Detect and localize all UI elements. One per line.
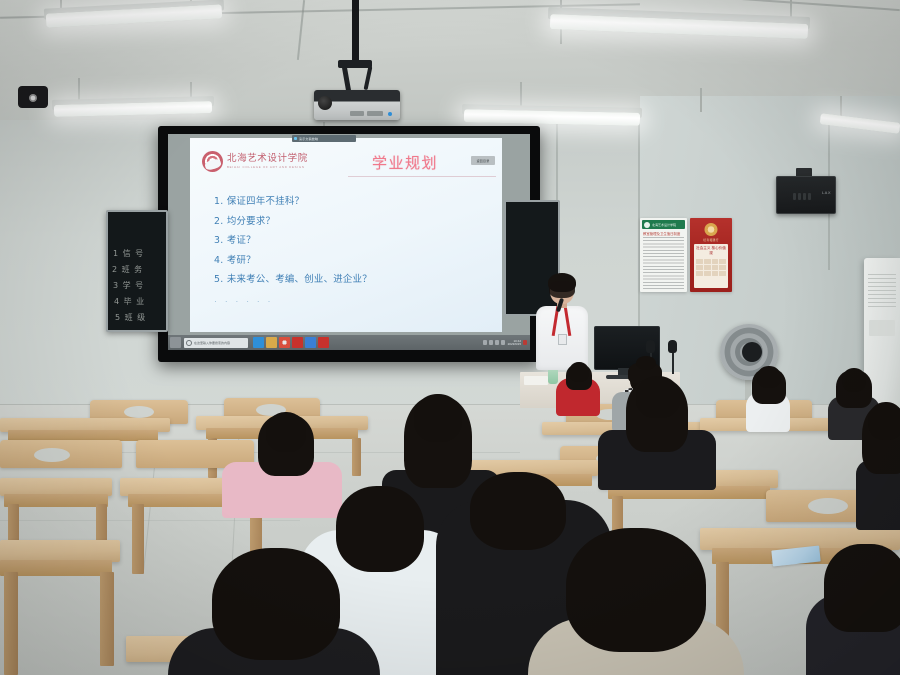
desk-leg: [132, 504, 144, 574]
slide-ellipsis: · · · · · ·: [214, 296, 372, 306]
speaker-brand-label: LAX: [822, 190, 831, 195]
projector-power-led: [388, 112, 392, 116]
desk-leg: [4, 572, 18, 675]
school-name-cn: 北海艺术设计学院: [227, 154, 308, 164]
desk-leg: [352, 438, 361, 476]
poster-emblem-icon: [705, 223, 718, 236]
slide-corner-button[interactable]: 返回目录: [471, 156, 495, 165]
blackboard-left: 1 信 号 2 班 务 3 学 号 4 毕 业 5 班 级: [106, 210, 168, 332]
taskbar-clock[interactable]: 10:42 2023/9/15: [508, 340, 521, 346]
wps-icon[interactable]: [292, 337, 303, 348]
poster-notice-header-text: 北海艺术设计学院: [652, 223, 676, 227]
fan-hub: [742, 342, 762, 362]
school-logo: 北海艺术设计学院 BEIHAI COLLEGE OF ART AND DESIG…: [202, 151, 308, 172]
mic-stand-2: [672, 352, 674, 374]
slide-bullet-4: 4. 考研？: [214, 252, 372, 266]
student-desk-apron: [4, 494, 108, 507]
poster-logo-icon: [644, 222, 650, 228]
display-desktop: 演示文稿放映 北海艺术设计学院 BEIHAI COLLEGE OF ART AN…: [168, 134, 530, 350]
blackboard-line-2: 2 班 务: [112, 264, 143, 275]
chair-backrest-hole: [34, 448, 70, 462]
wall-speaker: LAX: [776, 176, 836, 214]
slide-top-tab[interactable]: 演示文稿放映: [292, 135, 356, 142]
chair-backrest-hole: [124, 406, 154, 418]
slide-bullet-1: 1. 保证四年不挂科？: [214, 193, 372, 207]
blackboard-line-4: 4 毕 业: [114, 296, 145, 307]
poster-notice-title: 教室管理及卫生值日制度: [643, 231, 680, 236]
slide-bullet-3: 3. 考证？: [214, 232, 372, 246]
chair-backrest-hole: [808, 498, 848, 514]
chrome-icon[interactable]: [279, 337, 290, 348]
ac-control-panel[interactable]: [869, 320, 895, 336]
slide-corner-button-label: 返回目录: [477, 159, 490, 163]
ac-grill: [868, 274, 896, 310]
poster-values-grid: [696, 259, 726, 276]
task-view-icon[interactable]: [253, 337, 264, 348]
tray-volume-icon[interactable]: [489, 340, 493, 345]
presentation-slide: 演示文稿放映 北海艺术设计学院 BEIHAI COLLEGE OF ART AN…: [190, 138, 502, 332]
slide-bullet-5: 5. 未来考公、考编、创业、进企业？: [214, 271, 372, 285]
poster-notice-header: 北海艺术设计学院: [642, 220, 685, 229]
system-tray[interactable]: 10:42 2023/9/15: [483, 340, 530, 346]
wall-poster-notice: 北海艺术设计学院 教室管理及卫生值日制度: [640, 218, 687, 292]
projector-mount-pole: [352, 0, 359, 62]
windows-taskbar[interactable]: 在这里输入你要搜索的内容 10:42: [168, 335, 530, 350]
tray-battery-icon[interactable]: [501, 340, 505, 345]
notification-center-icon[interactable]: [523, 340, 527, 345]
search-icon: [186, 340, 192, 346]
slide-bullet-2: 2. 均分要求？: [214, 213, 372, 227]
slide-tab-label: 演示文稿放映: [299, 137, 318, 141]
taskbar-icons[interactable]: [253, 337, 329, 348]
presenter-hair-side: [549, 281, 575, 298]
slide-tab-dot-icon: [294, 137, 297, 140]
file-explorer-icon[interactable]: [266, 337, 277, 348]
blackboard-line-5: 5 班 级: [115, 312, 146, 323]
presenter-badge: [558, 334, 567, 345]
student-desk-top: [0, 540, 120, 562]
poster-values-title: 社会主义 核心价值观: [696, 246, 726, 257]
desk-leg: [100, 572, 114, 666]
projector-lens: [318, 96, 332, 110]
slide-title: 学业规划: [372, 152, 438, 173]
tray-input-icon[interactable]: [495, 340, 499, 345]
desk-microphone-1[interactable]: [646, 340, 655, 353]
tray-network-icon[interactable]: [483, 340, 487, 345]
pdf-reader-icon[interactable]: [318, 337, 329, 348]
speaker-grill: [793, 193, 811, 200]
powerpoint-icon[interactable]: [305, 337, 316, 348]
interactive-display[interactable]: 演示文稿放映 北海艺术设计学院 BEIHAI COLLEGE OF ART AN…: [158, 126, 540, 362]
clock-date: 2023/9/15: [508, 343, 521, 346]
start-button-icon[interactable]: [170, 337, 181, 348]
desk-microphone-2[interactable]: [668, 340, 677, 353]
poster-notice-body: [643, 237, 684, 289]
slide-bullet-list: 1. 保证四年不挂科？ 2. 均分要求？ 3. 考证？ 4. 考研？ 5. 未来…: [214, 193, 372, 306]
taskbar-search-placeholder: 在这里输入你要搜索的内容: [194, 341, 230, 345]
wall-poster-core-values: 培育和践行 社会主义 核心价值观: [690, 218, 732, 292]
poster-values-subtitle: 培育和践行: [703, 238, 719, 242]
blackboard-line-1: 1 信 号: [113, 248, 144, 259]
slide-title-rule: [348, 176, 496, 177]
school-logo-mark-icon: [202, 151, 223, 172]
classroom-scene: 演示文稿放映 北海艺术设计学院 BEIHAI COLLEGE OF ART AN…: [0, 0, 900, 675]
blackboard-line-3: 3 学 号: [113, 280, 144, 291]
taskbar-search-input[interactable]: 在这里输入你要搜索的内容: [184, 338, 248, 348]
handbag-clasp-icon: [29, 94, 37, 102]
school-name-en: BEIHAI COLLEGE OF ART AND DESIGN: [227, 166, 308, 169]
poster-values-card: 社会主义 核心价值观: [694, 244, 728, 288]
